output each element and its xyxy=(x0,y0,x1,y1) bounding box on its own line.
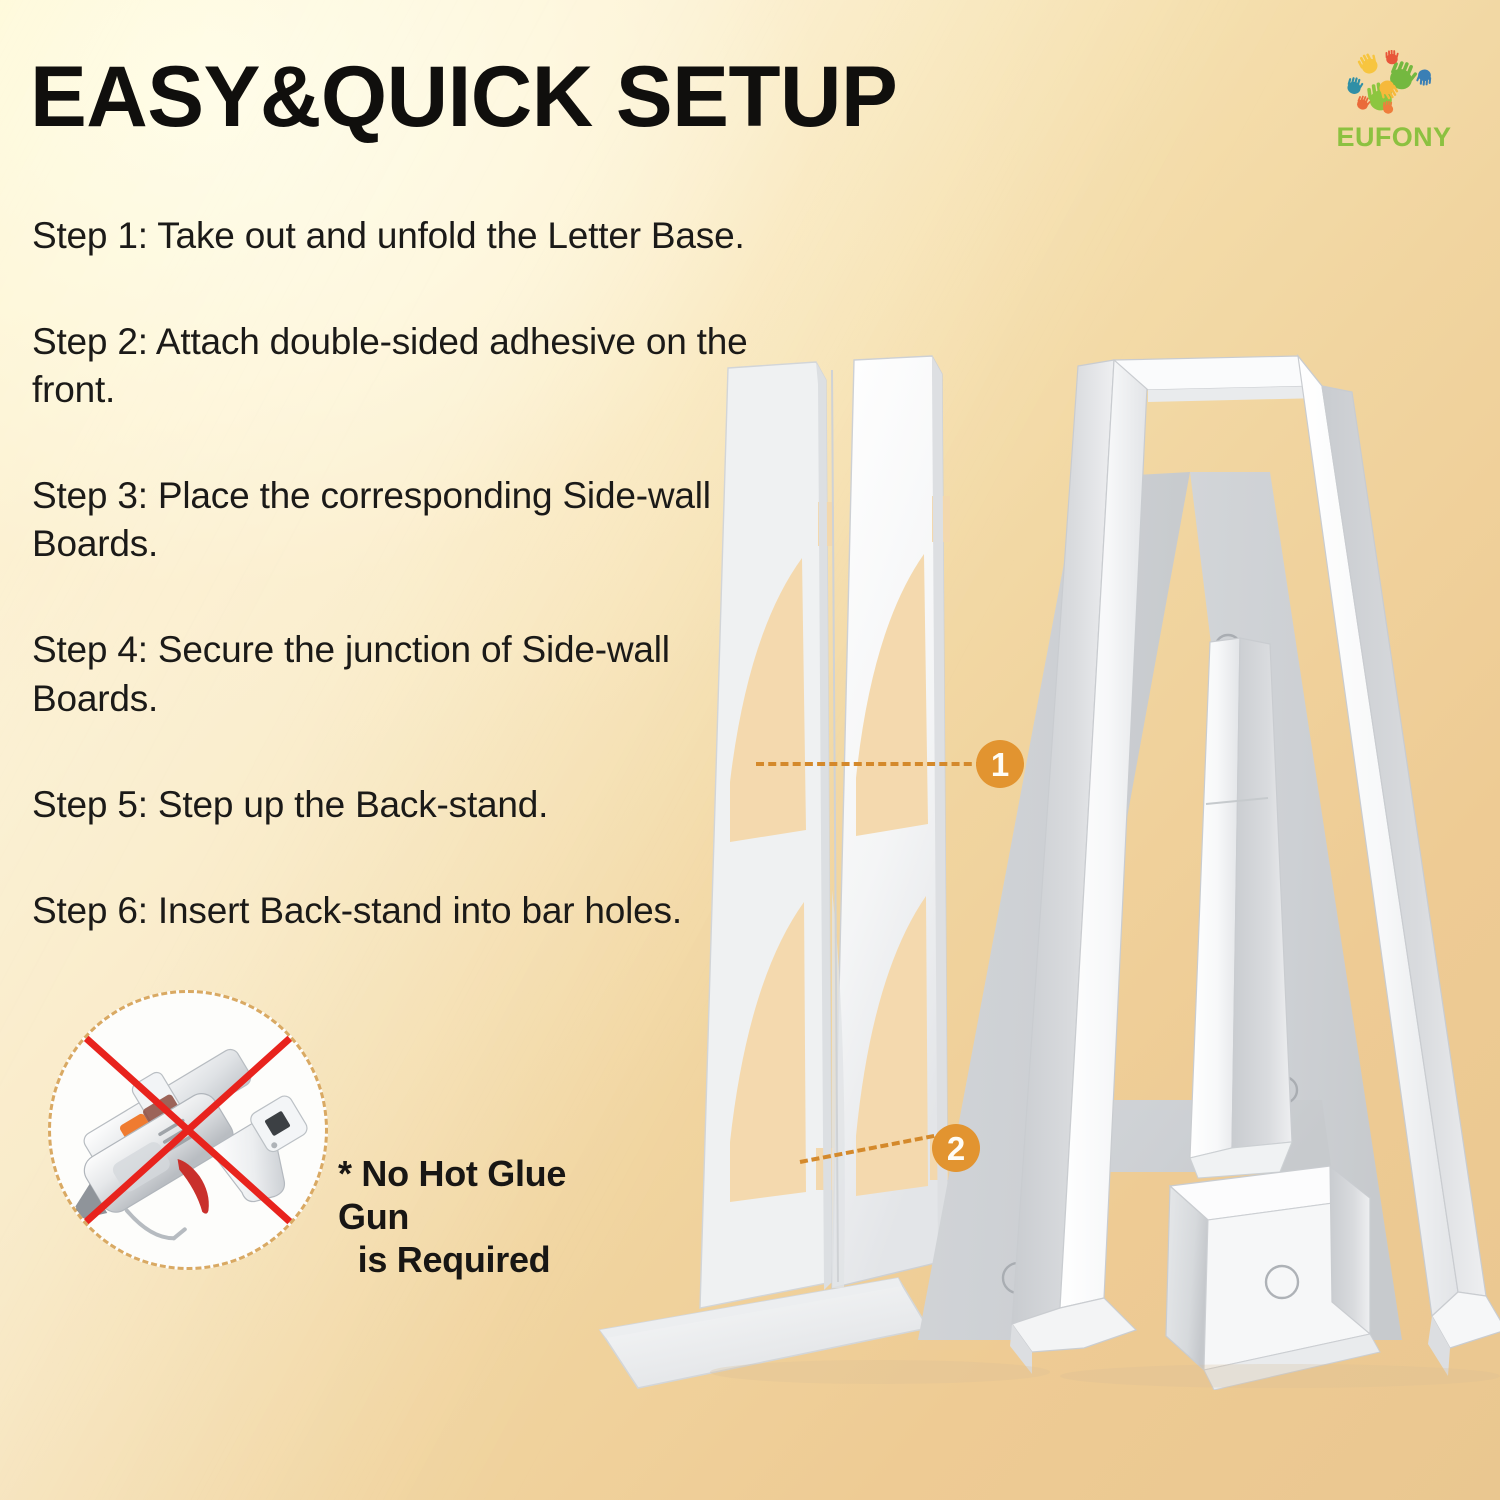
letter-a-assembly-illustration xyxy=(580,330,1500,1390)
handprints-circle-logo-icon xyxy=(1338,50,1450,124)
callout-1-leader-line xyxy=(756,762,984,766)
no-glue-gun-label-line2: is Required xyxy=(338,1238,598,1281)
page-title: EASY&QUICK SETUP xyxy=(30,48,897,147)
prohibited-circle xyxy=(48,990,328,1270)
callout-1: 1 xyxy=(756,740,1036,790)
no-hot-glue-gun-note: * No Hot Glue Gun is Required xyxy=(38,988,598,1288)
brand-logo: EUFONY xyxy=(1330,50,1458,154)
no-glue-gun-label: * No Hot Glue Gun is Required xyxy=(338,1152,598,1282)
step-item-1: Step 1: Take out and unfold the Letter B… xyxy=(32,212,772,260)
brand-name: EUFONY xyxy=(1330,122,1458,153)
side-wall-apex-cap xyxy=(1114,356,1322,390)
back-stand-assembly xyxy=(600,356,950,1388)
callout-2-badge: 2 xyxy=(932,1124,980,1172)
callout-1-badge: 1 xyxy=(976,740,1024,788)
instruction-page: EASY&QUICK SETUP xyxy=(0,0,1500,1500)
side-wall-crossbar-channel xyxy=(1166,1166,1380,1390)
no-glue-gun-label-line1: * No Hot Glue Gun xyxy=(338,1152,598,1238)
callout-2: 2 xyxy=(800,1120,1000,1180)
